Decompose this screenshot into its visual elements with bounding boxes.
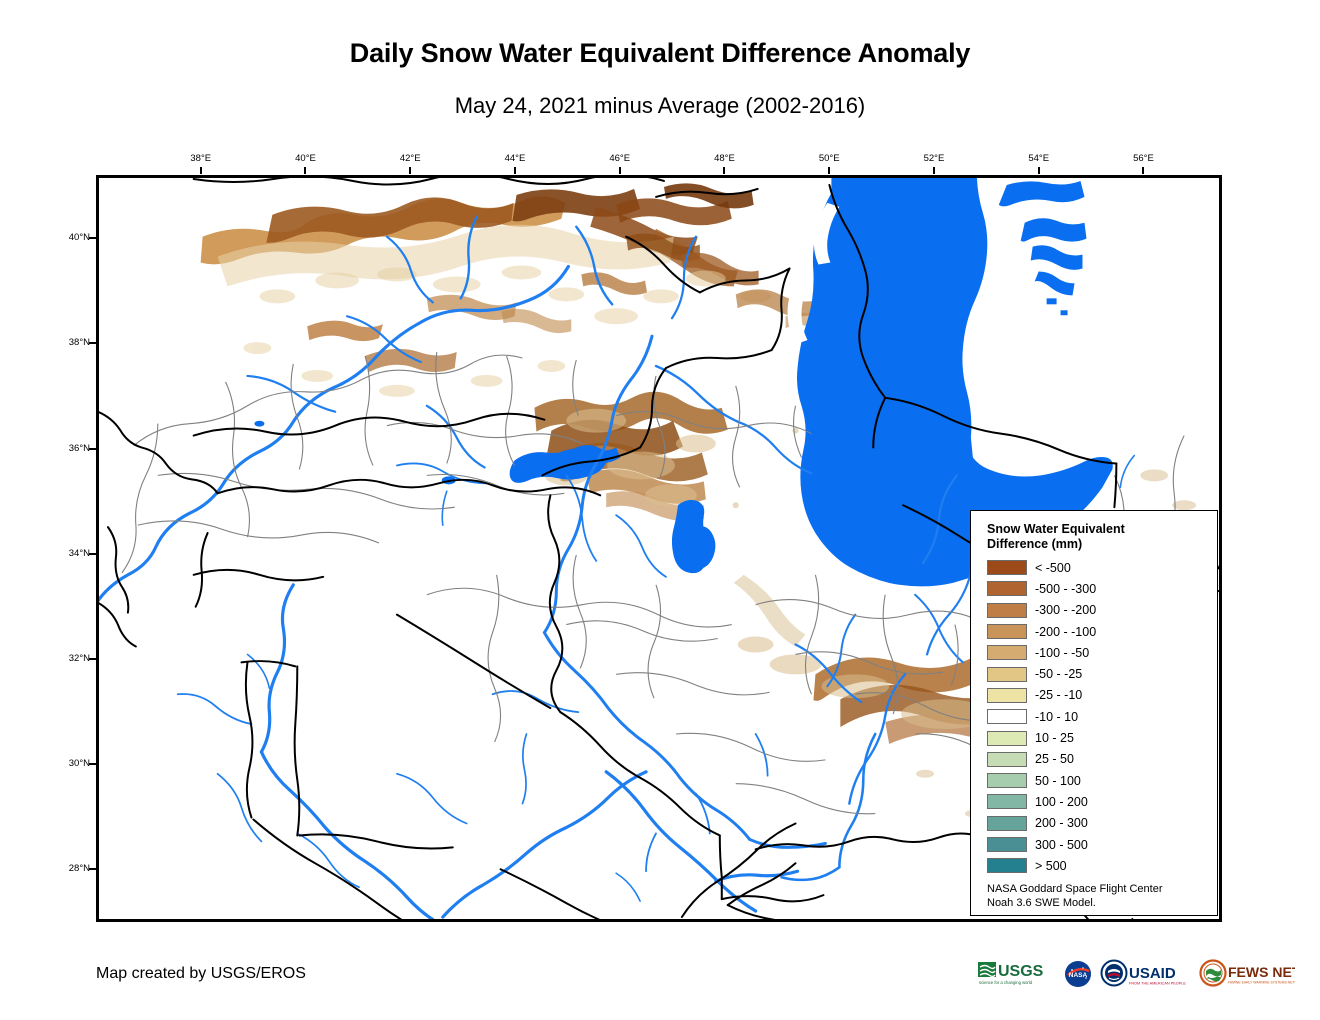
latitude-label: 36°N [42,443,90,454]
legend-title-line2: Difference (mm) [987,537,1082,551]
legend-swatch [987,667,1027,682]
legend-label: -300 - -200 [1035,603,1096,617]
legend-item: 200 - 300 [987,813,1217,834]
longitude-label: 48°E [704,153,744,164]
latitude-tick [89,553,96,555]
legend-label: -200 - -100 [1035,625,1096,639]
legend-label: -50 - -25 [1035,667,1082,681]
fewsnet-globe-icon [1201,961,1226,986]
latitude-tick [89,342,96,344]
latitude-label: 30°N [42,758,90,769]
legend-swatch [987,688,1027,703]
svg-text:FEWS NET: FEWS NET [1228,964,1295,980]
longitude-tick [514,167,516,174]
legend-item: 50 - 100 [987,770,1217,791]
legend-item: -10 - 10 [987,706,1217,727]
legend-item: -50 - -25 [987,663,1217,684]
legend-item: 300 - 500 [987,834,1217,855]
longitude-tick [828,167,830,174]
latitude-tick [89,658,96,660]
legend-items: < -500-500 - -300-300 - -200-200 - -100-… [987,557,1217,876]
longitude-label: 44°E [495,153,535,164]
longitude-label: 38°E [181,153,221,164]
legend-item: -200 - -100 [987,621,1217,642]
legend-label: 10 - 25 [1035,731,1074,745]
latitude-tick [89,448,96,450]
longitude-tick [1142,167,1144,174]
legend-label: -100 - -50 [1035,646,1089,660]
legend-swatch [987,709,1027,724]
legend-label: -10 - 10 [1035,710,1078,724]
map-legend: Snow Water Equivalent Difference (mm) < … [970,510,1218,916]
legend-item: -100 - -50 [987,642,1217,663]
legend-swatch [987,731,1027,746]
nasa-logo: NASA [1063,959,1093,989]
legend-swatch [987,624,1027,639]
longitude-label: 52°E [914,153,954,164]
latitude-label: 34°N [42,548,90,559]
legend-label: 100 - 200 [1035,795,1088,809]
usaid-seal-icon [1102,961,1127,986]
legend-swatch [987,603,1027,618]
longitude-tick [933,167,935,174]
latitude-tick [89,868,96,870]
legend-swatch [987,581,1027,596]
svg-text:FROM THE AMERICAN PEOPLE: FROM THE AMERICAN PEOPLE [1129,982,1186,986]
legend-label: < -500 [1035,561,1071,575]
legend-label: 25 - 50 [1035,752,1074,766]
latitude-label: 32°N [42,653,90,664]
legend-swatch [987,645,1027,660]
svg-text:science for a changing world: science for a changing world [979,980,1033,985]
legend-swatch [987,560,1027,575]
page-title: Daily Snow Water Equivalent Difference A… [0,38,1320,69]
legend-title-line1: Snow Water Equivalent [987,522,1125,536]
legend-item: 10 - 25 [987,727,1217,748]
legend-label: -500 - -300 [1035,582,1096,596]
latitude-label: 40°N [42,232,90,243]
legend-item: < -500 [987,557,1217,578]
legend-swatch [987,794,1027,809]
longitude-tick [304,167,306,174]
latitude-label: 28°N [42,863,90,874]
longitude-tick [619,167,621,174]
agency-logos: USGS science for a changing world NASA U… [978,957,1295,991]
longitude-label: 50°E [809,153,849,164]
legend-title: Snow Water Equivalent Difference (mm) [987,522,1197,552]
legend-source: NASA Goddard Space Flight Center Noah 3.… [987,883,1202,910]
longitude-label: 54°E [1019,153,1059,164]
legend-label: > 500 [1035,859,1067,873]
legend-item: -500 - -300 [987,578,1217,599]
longitude-tick [409,167,411,174]
svg-text:USAID: USAID [1129,965,1176,982]
svg-text:USGS: USGS [998,963,1044,980]
legend-item: 25 - 50 [987,749,1217,770]
page-subtitle: May 24, 2021 minus Average (2002-2016) [0,93,1320,119]
legend-label: 50 - 100 [1035,774,1081,788]
legend-item: -25 - -10 [987,685,1217,706]
legend-item: > 500 [987,855,1217,876]
legend-swatch [987,837,1027,852]
svg-text:FAMINE EARLY WARNING SYSTEMS N: FAMINE EARLY WARNING SYSTEMS NETWORK [1228,981,1295,985]
map-credit: Map created by USGS/EROS [96,965,306,983]
longitude-label: 42°E [390,153,430,164]
longitude-label: 56°E [1123,153,1163,164]
legend-item: 100 - 200 [987,791,1217,812]
legend-swatch [987,752,1027,767]
longitude-label: 46°E [600,153,640,164]
legend-swatch [987,816,1027,831]
latitude-label: 38°N [42,337,90,348]
latitude-tick [89,763,96,765]
usgs-logo: USGS science for a changing world [978,959,1056,989]
legend-swatch [987,858,1027,873]
svg-text:NASA: NASA [1069,972,1088,979]
legend-swatch [987,773,1027,788]
legend-source-line2: Noah 3.6 SWE Model. [987,897,1096,909]
longitude-tick [723,167,725,174]
legend-label: 300 - 500 [1035,838,1088,852]
longitude-tick [200,167,202,174]
usaid-logo: USAID FROM THE AMERICAN PEOPLE [1100,959,1192,989]
legend-label: -25 - -10 [1035,688,1082,702]
legend-item: -300 - -200 [987,600,1217,621]
legend-label: 200 - 300 [1035,816,1088,830]
legend-source-line1: NASA Goddard Space Flight Center [987,883,1162,895]
fewsnet-logo: FEWS NET FAMINE EARLY WARNING SYSTEMS NE… [1199,959,1295,989]
usgs-wave-icon [978,962,996,977]
longitude-tick [1038,167,1040,174]
latitude-tick [89,237,96,239]
longitude-label: 40°E [285,153,325,164]
map-frame[interactable]: Snow Water Equivalent Difference (mm) < … [96,175,1222,922]
